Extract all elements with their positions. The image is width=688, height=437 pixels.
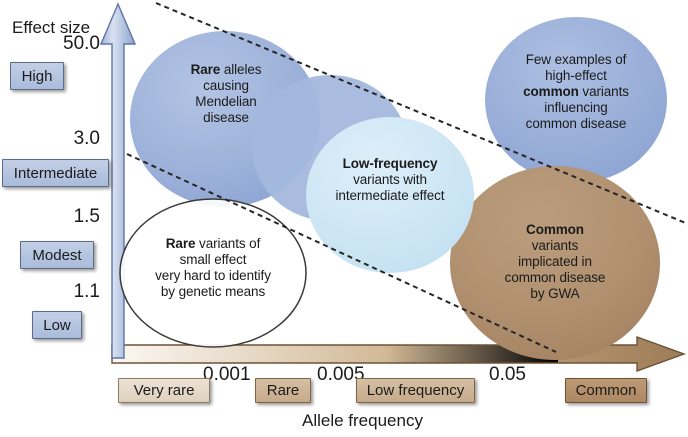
x-category-rare[interactable]: Rare [255,378,311,403]
y-category-modest[interactable]: Modest [20,241,94,269]
y-category-high[interactable]: High [10,62,64,90]
x-category-low-frequency[interactable]: Low frequency [356,378,475,403]
x-category-very-rare[interactable]: Very rare [118,378,210,403]
bubble-high-effect-common [485,17,667,183]
y-category-low[interactable]: Low [32,311,82,339]
bubble-rare-small-effect [120,199,306,347]
y-tick-1-5: 1.5 [26,206,100,228]
x-axis-title: Allele frequency [302,411,423,431]
bubble-low-frequency [306,117,474,273]
x-tick-0-05: 0.05 [489,364,526,386]
y-tick-3: 3.0 [26,128,100,150]
x-category-common[interactable]: Common [565,378,647,403]
x-tick-0-001: 0.001 [203,364,251,386]
y-tick-50: 50.0 [26,33,100,55]
bubble-common-gwa [450,166,660,360]
y-category-intermediate[interactable]: Intermediate [2,159,109,187]
effect-size-vs-allele-frequency-diagram: Effect size 50.0 3.0 1.5 1.1 High Interm… [0,0,688,437]
y-tick-1-1: 1.1 [26,281,100,303]
